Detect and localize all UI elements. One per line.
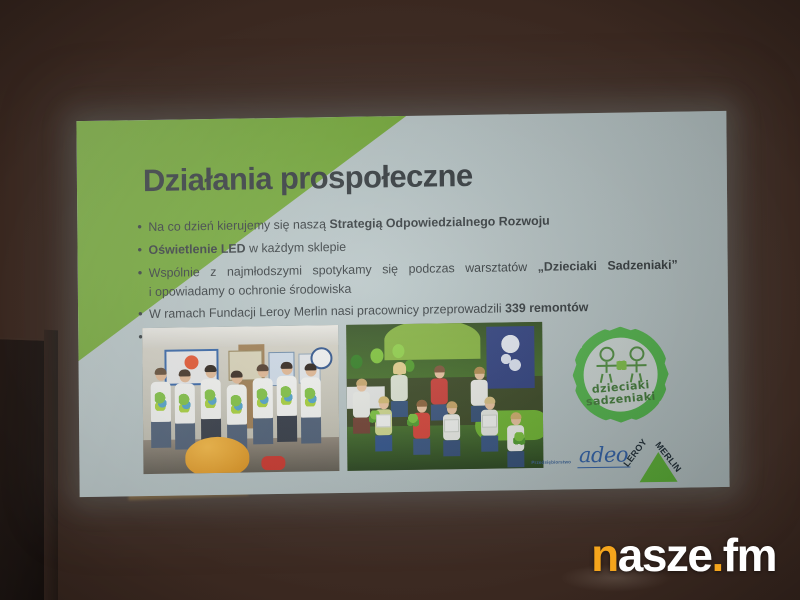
child-figure-icon (594, 347, 618, 377)
nasze-fm-watermark: nasze.fm (591, 532, 776, 578)
bullet-marker: • (137, 218, 148, 237)
text-run: w każdym sklepie (246, 240, 347, 256)
watermark-suffix: fm (723, 529, 776, 581)
dzieciaki-sadzeniaki-logo: dzieciaki sadzeniaki (572, 326, 669, 424)
photo-children (346, 322, 543, 471)
page-title: Działania prospołeczne (143, 158, 473, 199)
list-item-text: Oświetlenie LED w każdym sklepie (148, 233, 677, 260)
watermark-middle: asze (618, 529, 712, 581)
text-continuation: i opowiadamy o ochronie środowiska (149, 281, 352, 298)
watermark-prefix: n (591, 529, 618, 581)
photo-employees (142, 325, 339, 474)
projected-slide: Działania prospołeczne • Na co dzień kie… (76, 111, 729, 497)
watermark-dot: . (711, 529, 722, 581)
bullet-marker: • (137, 241, 148, 260)
text-run-bold: „Dzieciaki Sadzeniaki” (538, 257, 678, 273)
list-item: • Wspólnie z najmłodszymi spotykamy się … (138, 255, 678, 301)
adeo-logo: Przedsiębiorstwo adeo (531, 444, 630, 469)
leroy-merlin-logo: LEROY MERLIN (627, 432, 689, 487)
text-run: Na co dzień kierujemy się naszą (148, 217, 329, 234)
left-dark-panel (0, 337, 48, 600)
sprout-icon (616, 360, 626, 372)
bullet-marker: • (138, 264, 149, 283)
room-scene: Działania prospołeczne • Na co dzień kie… (0, 0, 800, 600)
text-run-bold: 339 remontów (505, 300, 588, 315)
text-run: Wspólnie z najmłodszymi spotykamy się po… (149, 260, 538, 280)
bullet-marker: • (138, 305, 149, 324)
text-run-bold: Strategią Odpowiedzialnego Rozwoju (329, 214, 549, 231)
child-figure-icon (624, 346, 648, 376)
left-panel-edge (44, 330, 58, 600)
text-run-bold: Oświetlenie LED (148, 241, 245, 257)
text-line: Wspólnie z najmłodszymi spotykamy się po… (149, 255, 678, 282)
text-run: W ramach Fundacji Leroy Merlin nasi prac… (149, 302, 505, 322)
slide-surface: Działania prospołeczne • Na co dzień kie… (76, 111, 729, 497)
adeo-caption: Przedsiębiorstwo (531, 459, 571, 469)
list-item-text: Wspólnie z najmłodszymi spotykamy się po… (149, 255, 678, 301)
adeo-wordmark: adeo (577, 444, 630, 468)
list-item-text: W ramach Fundacji Leroy Merlin nasi prac… (149, 297, 678, 324)
